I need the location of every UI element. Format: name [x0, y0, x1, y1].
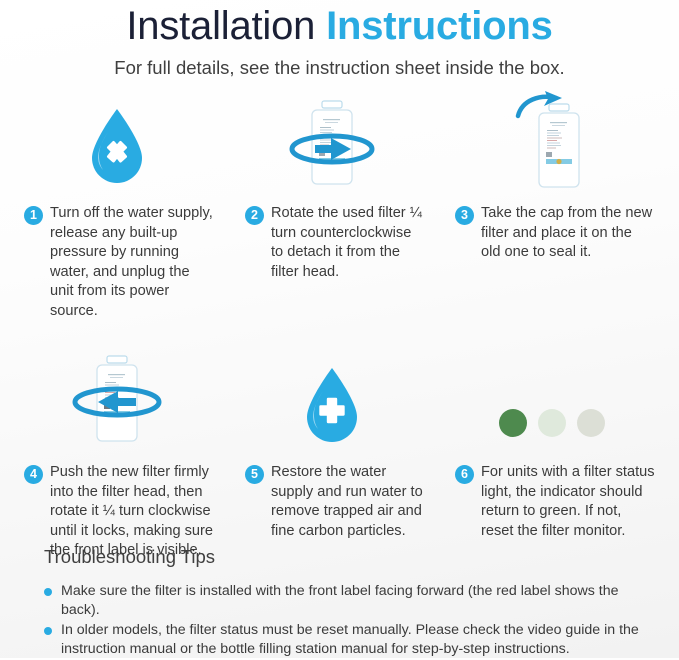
- troubleshooting-title: Troubleshooting Tips: [44, 545, 655, 569]
- filter-cartridge: [539, 104, 579, 187]
- bullet-icon: [44, 588, 52, 596]
- step-5-body: 5 Restore the water supply and run water…: [227, 453, 437, 541]
- step-2-artwork: [227, 98, 437, 194]
- header: Installation Instructions For full detai…: [0, 0, 679, 80]
- step-3-number: 3: [455, 206, 474, 225]
- step-2-text: Rotate the used filter ¼ turn counterclo…: [271, 204, 425, 282]
- status-dot-green: [499, 409, 527, 437]
- step-6-body: 6 For units with a filter status light, …: [437, 453, 667, 541]
- filter-rotate-counterclockwise-icon: [273, 98, 391, 190]
- bullet-icon: [44, 627, 52, 635]
- step-3-artwork: [437, 98, 667, 194]
- page-title: Installation Instructions: [0, 2, 679, 50]
- filter-rotate-clockwise-icon: [58, 349, 176, 449]
- step-4: 4 Push the new filter firmly into the fi…: [6, 349, 227, 561]
- filter-cap-arrow-icon: [504, 90, 600, 190]
- troubleshooting-tips-list: Make sure the filter is installed with t…: [44, 582, 655, 659]
- page-title-accent: Instructions: [326, 4, 553, 48]
- step-1-number: 1: [24, 206, 43, 225]
- status-indicator-dots-icon: [499, 409, 605, 449]
- step-2-number: 2: [245, 206, 264, 225]
- step-5-number: 5: [245, 465, 264, 484]
- step-5-artwork: [227, 349, 437, 453]
- step-1-artwork: [6, 98, 227, 194]
- step-3: 3 Take the cap from the new filter and p…: [437, 98, 667, 321]
- steps-row-1: 1 Turn off the water supply, release any…: [0, 98, 679, 321]
- troubleshooting-tip-text: Make sure the filter is installed with t…: [61, 582, 655, 620]
- troubleshooting-tip-text: In older models, the filter status must …: [61, 621, 655, 659]
- step-3-text: Take the cap from the new filter and pla…: [481, 204, 655, 263]
- step-5: 5 Restore the water supply and run water…: [227, 349, 437, 561]
- step-1-text: Turn off the water supply, release any b…: [50, 204, 215, 321]
- steps-row-2: 4 Push the new filter firmly into the fi…: [0, 349, 679, 561]
- list-item: Make sure the filter is installed with t…: [44, 582, 655, 620]
- step-6-text: For units with a filter status light, th…: [481, 463, 655, 541]
- step-6-artwork: [437, 349, 667, 453]
- water-drop-plus-icon: [299, 365, 365, 449]
- step-6: 6 For units with a filter status light, …: [437, 349, 667, 561]
- page-title-plain: Installation: [126, 4, 326, 48]
- step-4-artwork: [6, 349, 227, 453]
- troubleshooting-section: Troubleshooting Tips Make sure the filte…: [44, 545, 655, 660]
- step-2: 2 Rotate the used filter ¼ turn counterc…: [227, 98, 437, 321]
- step-3-body: 3 Take the cap from the new filter and p…: [437, 194, 667, 263]
- page-subtitle: For full details, see the instruction sh…: [0, 56, 679, 80]
- water-drop-x-icon: [84, 106, 150, 190]
- list-item: In older models, the filter status must …: [44, 621, 655, 659]
- step-5-text: Restore the water supply and run water t…: [271, 463, 425, 541]
- step-1: 1 Turn off the water supply, release any…: [6, 98, 227, 321]
- installation-instructions-sheet: Installation Instructions For full detai…: [0, 0, 679, 658]
- step-2-body: 2 Rotate the used filter ¼ turn counterc…: [227, 194, 437, 282]
- step-1-body: 1 Turn off the water supply, release any…: [6, 194, 227, 321]
- status-dot-pale-green: [538, 409, 566, 437]
- status-dot-pale-gray: [577, 409, 605, 437]
- step-6-number: 6: [455, 465, 474, 484]
- step-4-number: 4: [24, 465, 43, 484]
